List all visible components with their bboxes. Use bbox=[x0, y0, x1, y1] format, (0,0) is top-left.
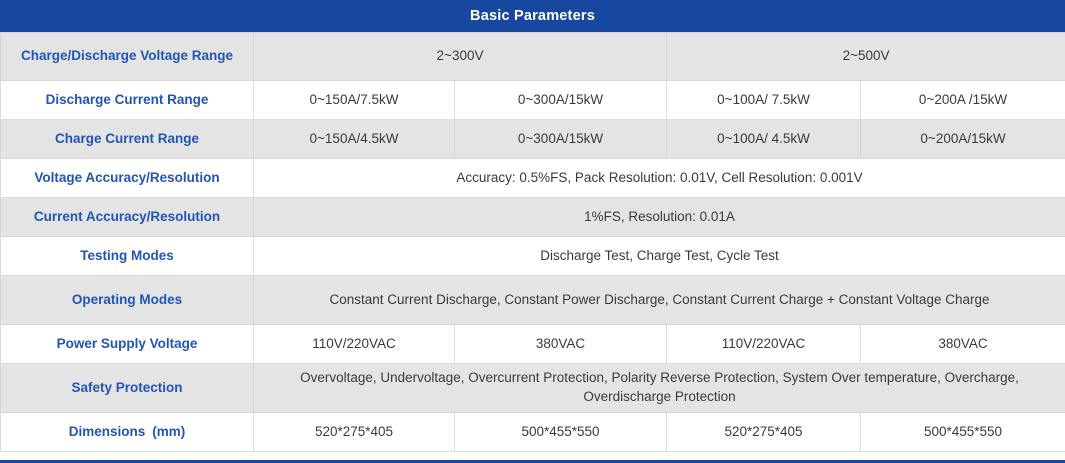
cell-voltage-range-1: 2~300V bbox=[254, 33, 667, 81]
cell-dimensions-1: 520*275*405 bbox=[254, 413, 455, 452]
table-row-safety-protection: Safety Protection Overvoltage, Undervolt… bbox=[1, 364, 1065, 413]
row-label-testing-modes: Testing Modes bbox=[1, 237, 254, 276]
row-label-voltage-range: Charge/Discharge Voltage Range bbox=[1, 33, 254, 81]
row-label-charge-current: Charge Current Range bbox=[1, 120, 254, 159]
cell-safety-protection: Overvoltage, Undervoltage, Overcurrent P… bbox=[254, 364, 1065, 413]
table-row-current-accuracy: Current Accuracy/Resolution 1%FS, Resolu… bbox=[1, 198, 1065, 237]
table-row-operating-modes: Operating Modes Constant Current Dischar… bbox=[1, 276, 1065, 325]
row-label-dimensions-text: Dimensions bbox=[69, 424, 146, 439]
row-label-current-accuracy: Current Accuracy/Resolution bbox=[1, 198, 254, 237]
basic-parameters-table: Charge/Discharge Voltage Range 2~300V 2~… bbox=[0, 32, 1065, 452]
row-label-safety-protection: Safety Protection bbox=[1, 364, 254, 413]
table-row-power-supply-voltage: Power Supply Voltage 110V/220VAC 380VAC … bbox=[1, 325, 1065, 364]
table-title-bar: Basic Parameters bbox=[0, 0, 1065, 32]
table-row-voltage-range: Charge/Discharge Voltage Range 2~300V 2~… bbox=[1, 33, 1065, 81]
cell-power-supply-voltage-2: 380VAC bbox=[455, 325, 667, 364]
cell-discharge-current-1: 0~150A/7.5kW bbox=[254, 81, 455, 120]
table-row-charge-current: Charge Current Range 0~150A/4.5kW 0~300A… bbox=[1, 120, 1065, 159]
cell-charge-current-1: 0~150A/4.5kW bbox=[254, 120, 455, 159]
page-title: Basic Parameters bbox=[470, 8, 595, 24]
cell-power-supply-voltage-3: 110V/220VAC bbox=[667, 325, 861, 364]
table-row-voltage-accuracy: Voltage Accuracy/Resolution Accuracy: 0.… bbox=[1, 159, 1065, 198]
table-row-discharge-current: Discharge Current Range 0~150A/7.5kW 0~3… bbox=[1, 81, 1065, 120]
row-label-dimensions-unit: (mm) bbox=[145, 423, 185, 442]
cell-dimensions-4: 500*455*550 bbox=[861, 413, 1065, 452]
row-label-power-supply-voltage: Power Supply Voltage bbox=[1, 325, 254, 364]
cell-discharge-current-4: 0~200A /15kW bbox=[861, 81, 1065, 120]
cell-charge-current-3: 0~100A/ 4.5kW bbox=[667, 120, 861, 159]
cell-charge-current-2: 0~300A/15kW bbox=[455, 120, 667, 159]
cell-dimensions-2: 500*455*550 bbox=[455, 413, 667, 452]
cell-current-accuracy: 1%FS, Resolution: 0.01A bbox=[254, 198, 1065, 237]
cell-discharge-current-2: 0~300A/15kW bbox=[455, 81, 667, 120]
cell-testing-modes: Discharge Test, Charge Test, Cycle Test bbox=[254, 237, 1065, 276]
cell-charge-current-4: 0~200A/15kW bbox=[861, 120, 1065, 159]
cell-power-supply-voltage-4: 380VAC bbox=[861, 325, 1065, 364]
cell-power-supply-voltage-1: 110V/220VAC bbox=[254, 325, 455, 364]
row-label-dimensions: Dimensions(mm) bbox=[1, 413, 254, 452]
cell-dimensions-3: 520*275*405 bbox=[667, 413, 861, 452]
cell-voltage-range-2: 2~500V bbox=[667, 33, 1065, 81]
row-label-discharge-current: Discharge Current Range bbox=[1, 81, 254, 120]
row-label-voltage-accuracy: Voltage Accuracy/Resolution bbox=[1, 159, 254, 198]
cell-discharge-current-3: 0~100A/ 7.5kW bbox=[667, 81, 861, 120]
spec-table-root: Basic Parameters Charge/Discharge Voltag… bbox=[0, 0, 1065, 463]
row-label-operating-modes: Operating Modes bbox=[1, 276, 254, 325]
cell-operating-modes: Constant Current Discharge, Constant Pow… bbox=[254, 276, 1065, 325]
table-row-testing-modes: Testing Modes Discharge Test, Charge Tes… bbox=[1, 237, 1065, 276]
table-row-dimensions: Dimensions(mm) 520*275*405 500*455*550 5… bbox=[1, 413, 1065, 452]
cell-voltage-accuracy: Accuracy: 0.5%FS, Pack Resolution: 0.01V… bbox=[254, 159, 1065, 198]
